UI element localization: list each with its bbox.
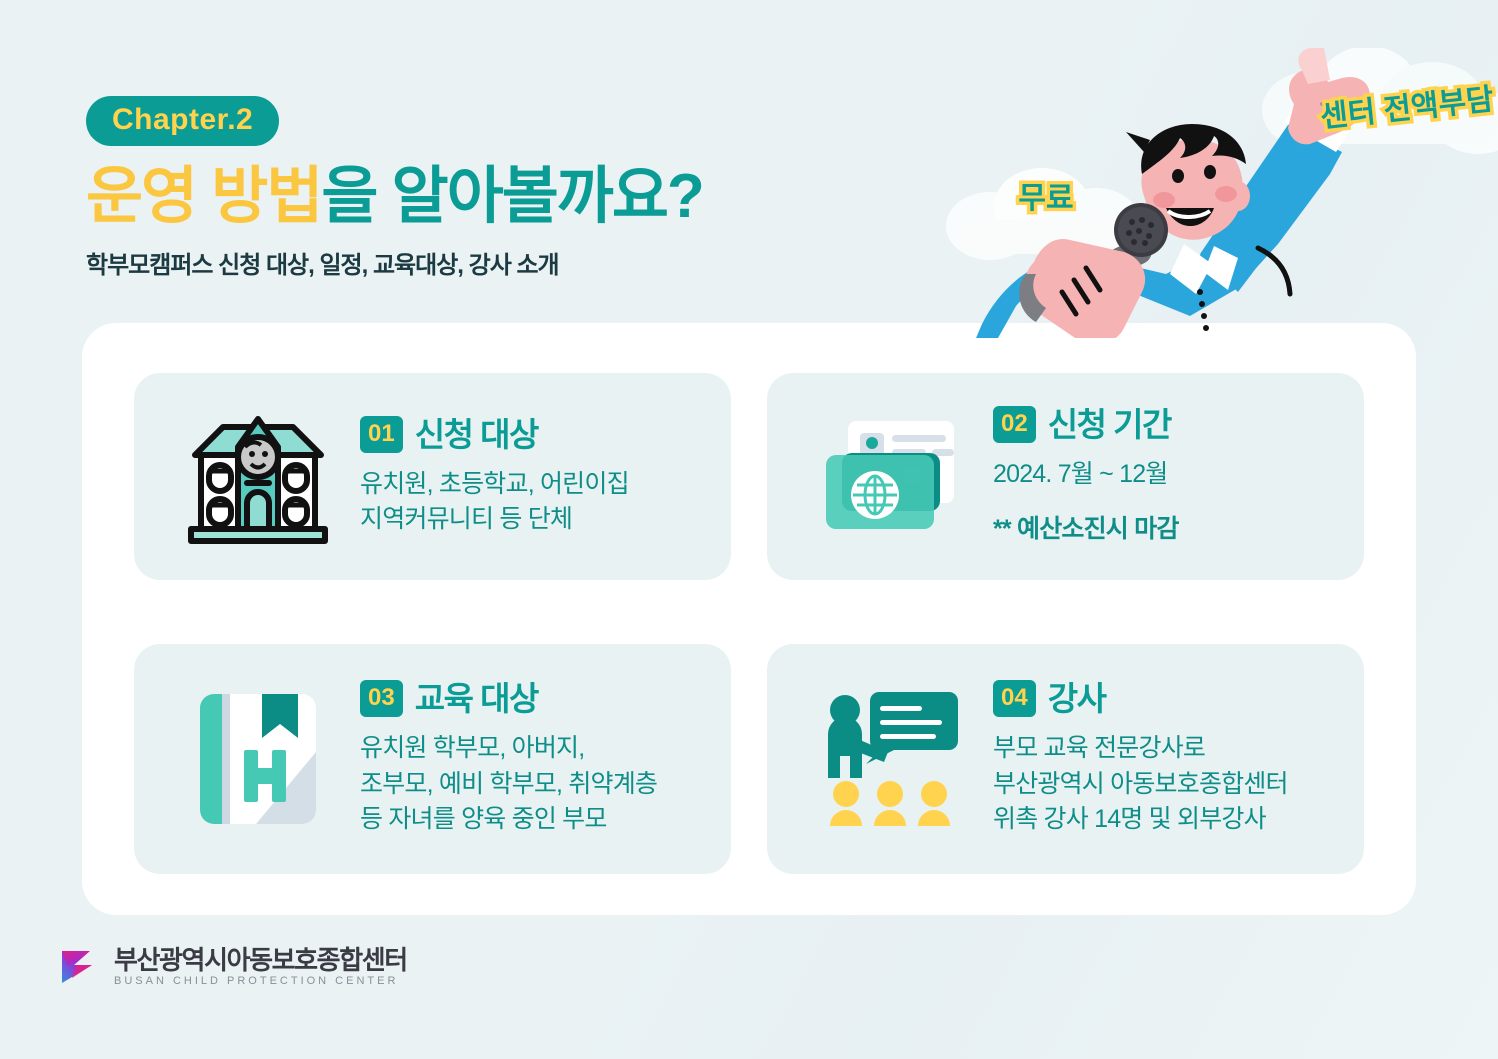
cloud-label-left: 무료	[1018, 182, 1073, 215]
card-line: 2024. 7월 ~ 12월	[993, 457, 1346, 493]
info-card-04[interactable]: 04 강사 부모 교육 전문강사로 부산광역시 아동보호종합센터 위촉 강사 1…	[767, 644, 1364, 874]
card-number-badge: 02	[993, 406, 1036, 443]
info-card-02-head: 02 신청 기간	[993, 406, 1346, 443]
chapter-badge: Chapter.2	[86, 96, 279, 146]
card-number-badge: 01	[360, 416, 403, 453]
info-card-02-lines: 2024. 7월 ~ 12월 ** 예산소진시 마감	[993, 457, 1346, 548]
organization-logo: 부산광역시아동보호종합센터 BUSAN CHILD PROTECTION CEN…	[58, 945, 407, 989]
page-header: Chapter.2 운영 방법을 알아볼까요? 학부모캠퍼스 신청 대상, 일정…	[86, 96, 703, 280]
info-card-01-head: 01 신청 대상	[360, 416, 713, 453]
info-card-04-head: 04 강사	[993, 680, 1346, 717]
card-line: 지역커뮤니티 등 단체	[360, 502, 713, 538]
card-number-badge: 04	[993, 680, 1036, 717]
card-title: 신청 기간	[1048, 408, 1171, 441]
card-line: 유치원 학부모, 아버지,	[360, 731, 713, 767]
presenter-audience-icon	[793, 688, 989, 830]
info-card-03-body: 03 교육 대상 유치원 학부모, 아버지, 조부모, 예비 학부모, 취약계층…	[356, 680, 713, 838]
info-card-03-head: 03 교육 대상	[360, 680, 713, 717]
speaker-illustration: 센터 전액부담 무료	[938, 48, 1498, 338]
info-card-02[interactable]: 02 신청 기간 2024. 7월 ~ 12월 ** 예산소진시 마감	[767, 373, 1364, 580]
logo-name-en: BUSAN CHILD PROTECTION CENTER	[114, 976, 407, 987]
logo-text: 부산광역시아동보호종합센터 BUSAN CHILD PROTECTION CEN…	[114, 947, 407, 986]
card-number-badge: 03	[360, 680, 403, 717]
card-title: 신청 대상	[415, 418, 538, 451]
page-title-base: 을 알아볼까요?	[321, 162, 702, 231]
book-bookmark-icon	[160, 690, 356, 828]
page-title-accent: 운영 방법	[86, 162, 321, 231]
info-card-grid: 01 신청 대상 유치원, 초등학교, 어린이집 지역커뮤니티 등 단체	[134, 373, 1364, 874]
info-card-03[interactable]: 03 교육 대상 유치원 학부모, 아버지, 조부모, 예비 학부모, 취약계층…	[134, 644, 731, 874]
id-card-icon	[793, 411, 989, 543]
card-line: 조부모, 예비 학부모, 취약계층	[360, 767, 713, 803]
card-line: 유치원, 초등학교, 어린이집	[360, 467, 713, 503]
info-card-04-lines: 부모 교육 전문강사로 부산광역시 아동보호종합센터 위촉 강사 14명 및 외…	[993, 731, 1346, 838]
info-card-01-lines: 유치원, 초등학교, 어린이집 지역커뮤니티 등 단체	[360, 467, 713, 538]
logo-name-ko: 부산광역시아동보호종합센터	[114, 947, 407, 974]
info-card-01-body: 01 신청 대상 유치원, 초등학교, 어린이집 지역커뮤니티 등 단체	[356, 416, 713, 538]
speech-bubble	[866, 692, 958, 764]
page-subtitle: 학부모캠퍼스 신청 대상, 일정, 교육대상, 강사 소개	[86, 245, 703, 280]
content-panel: 01 신청 대상 유치원, 초등학교, 어린이집 지역커뮤니티 등 단체	[82, 323, 1416, 915]
info-card-04-body: 04 강사 부모 교육 전문강사로 부산광역시 아동보호종합센터 위촉 강사 1…	[989, 680, 1346, 838]
busan-child-protection-center-logo-icon	[58, 945, 102, 989]
audience-figures	[830, 781, 950, 826]
card-title: 교육 대상	[415, 682, 538, 715]
school-building-icon	[160, 407, 356, 547]
card-line: 위촉 강사 14명 및 외부강사	[993, 802, 1346, 838]
card-line: 부모 교육 전문강사로	[993, 731, 1346, 767]
info-card-03-lines: 유치원 학부모, 아버지, 조부모, 예비 학부모, 취약계층 등 자녀를 양육…	[360, 731, 713, 838]
info-card-02-body: 02 신청 기간 2024. 7월 ~ 12월 ** 예산소진시 마감	[989, 406, 1346, 548]
info-card-01[interactable]: 01 신청 대상 유치원, 초등학교, 어린이집 지역커뮤니티 등 단체	[134, 373, 731, 580]
card-title: 강사	[1048, 682, 1106, 715]
card-line-note: ** 예산소진시 마감	[993, 512, 1346, 548]
card-line: 등 자녀를 양육 중인 부모	[360, 802, 713, 838]
page-title: 운영 방법을 알아볼까요?	[86, 164, 703, 229]
card-line: 부산광역시 아동보호종합센터	[993, 767, 1346, 803]
